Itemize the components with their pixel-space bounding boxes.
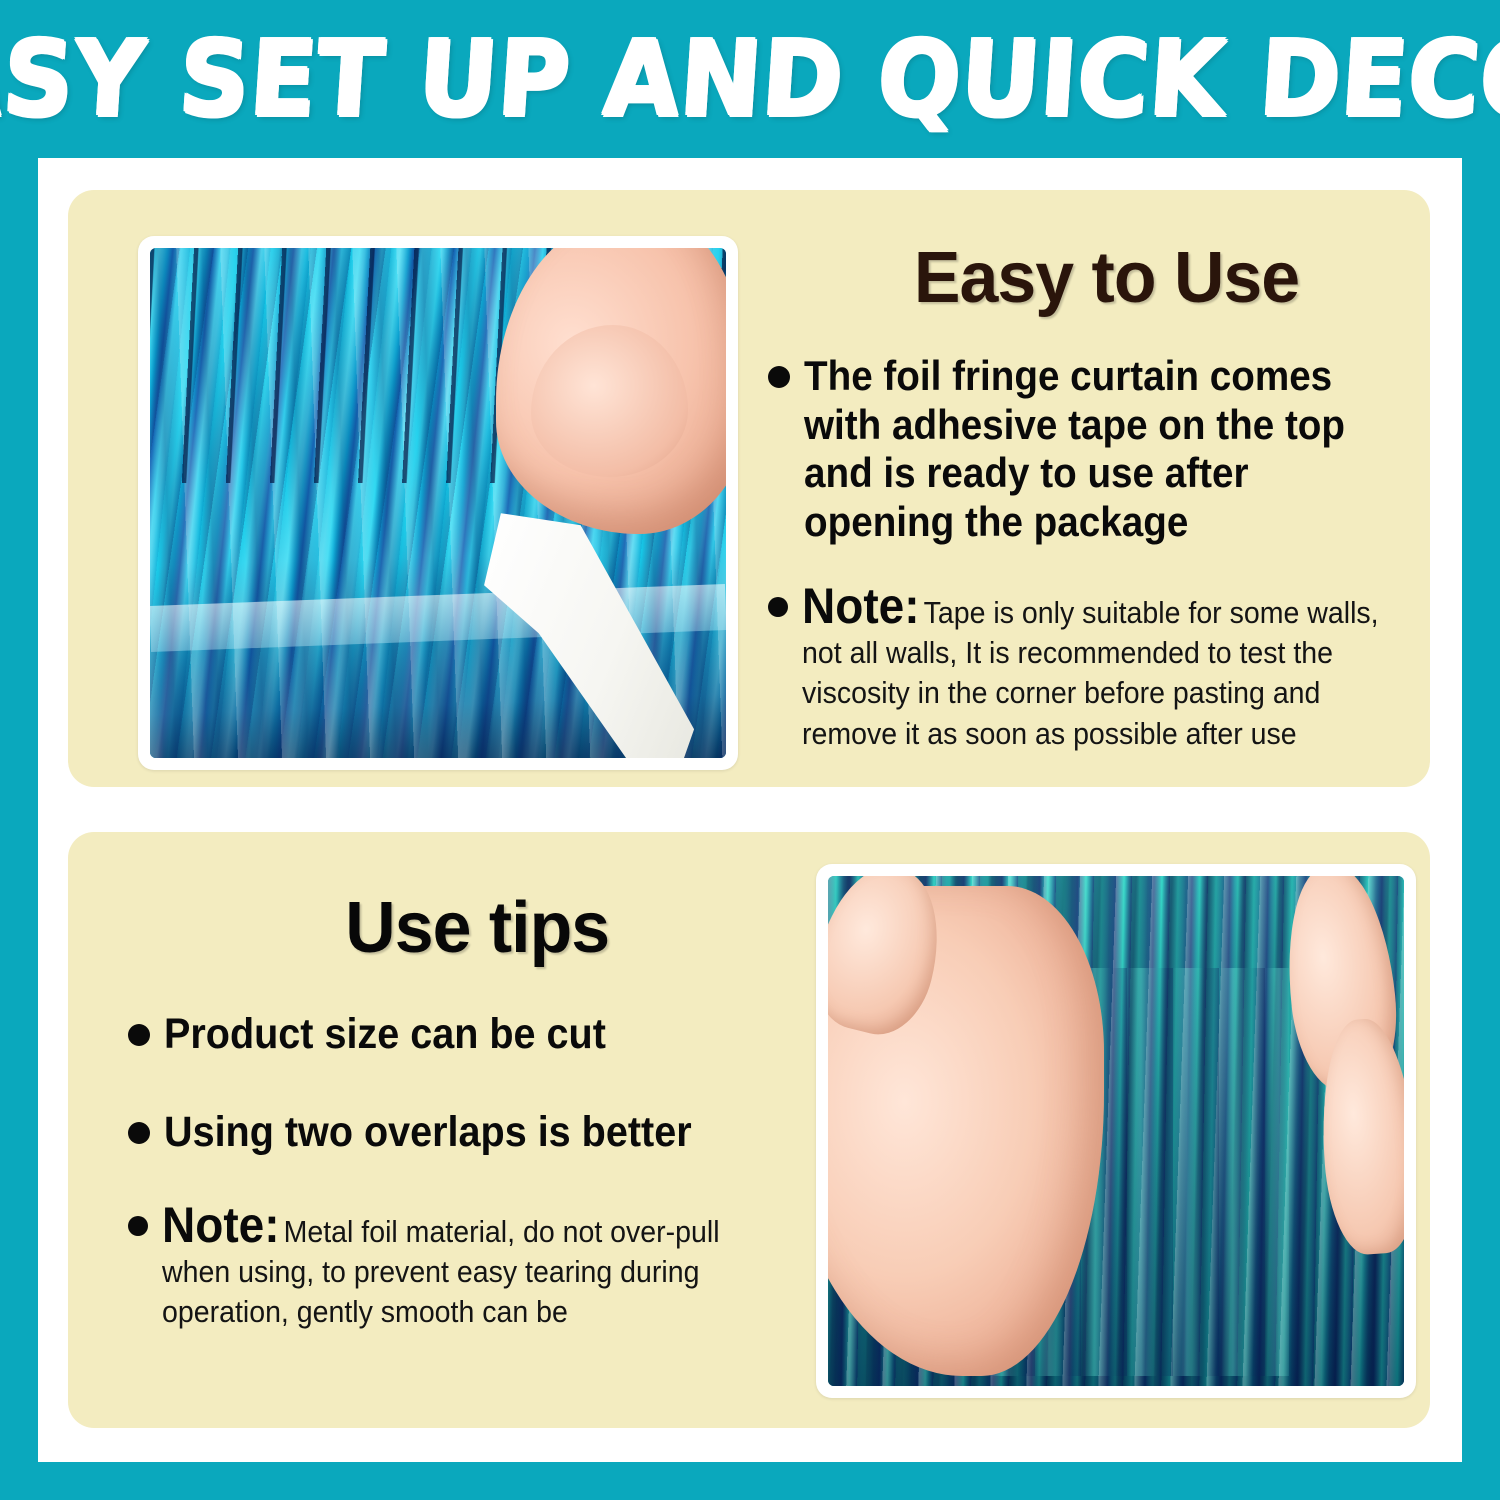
bullet-dot-icon: [128, 1216, 148, 1236]
bullet-dot-icon: [768, 597, 788, 617]
section-panel-use-tips: Use tips Product size can be cut Using t…: [68, 832, 1430, 1428]
note-label: Note:: [162, 1197, 280, 1253]
bullet-item: Using two overlaps is better: [128, 1108, 828, 1158]
bullet-text: Product size can be cut: [164, 1010, 775, 1060]
page-title: EASY SET UP AND QUICK DECOR: [0, 27, 1500, 131]
section-heading-use-tips: Use tips: [128, 892, 807, 964]
foil-fringe-adhesive-tape-photo: [150, 248, 726, 758]
bullet-item: The foil fringe curtain comes with adhes…: [768, 352, 1458, 547]
section-heading-easy-to-use: Easy to Use: [768, 242, 1437, 314]
note-item-use-tips: Note: Metal foil material, do not over-p…: [128, 1200, 828, 1333]
note-item-easy-to-use: Note: Tape is only suitable for some wal…: [768, 581, 1458, 754]
photo-frame-foil-fringe-adhesive-tape: [138, 236, 738, 770]
hand-peeling-tape: [496, 248, 726, 534]
infographic-page: EASY SET UP AND QUICK DECOR Easy to Use: [0, 0, 1500, 1500]
bullet-dot-icon: [128, 1024, 150, 1046]
hand-holding-fringe: [828, 886, 1104, 1376]
photo-frame-foil-fringe-strips: [816, 864, 1416, 1398]
foil-fringe-strips-in-hand-photo: [828, 876, 1404, 1386]
note-label: Note:: [802, 578, 920, 634]
header-banner: EASY SET UP AND QUICK DECOR: [0, 0, 1500, 158]
content-sheet: Easy to Use The foil fringe curtain come…: [38, 158, 1462, 1462]
bullet-text: The foil fringe curtain comes with adhes…: [804, 352, 1406, 547]
bullet-dot-icon: [128, 1122, 150, 1144]
bullet-dot-icon: [768, 366, 790, 388]
text-column-easy-to-use: Easy to Use The foil fringe curtain come…: [768, 242, 1458, 754]
text-column-use-tips: Use tips Product size can be cut Using t…: [128, 892, 828, 1333]
bullet-item: Product size can be cut: [128, 1010, 828, 1060]
section-panel-easy-to-use: Easy to Use The foil fringe curtain come…: [68, 190, 1430, 787]
bullet-text: Using two overlaps is better: [164, 1108, 775, 1158]
use-tips-list: Product size can be cut Using two overla…: [128, 1010, 828, 1158]
finger: [828, 876, 955, 1045]
